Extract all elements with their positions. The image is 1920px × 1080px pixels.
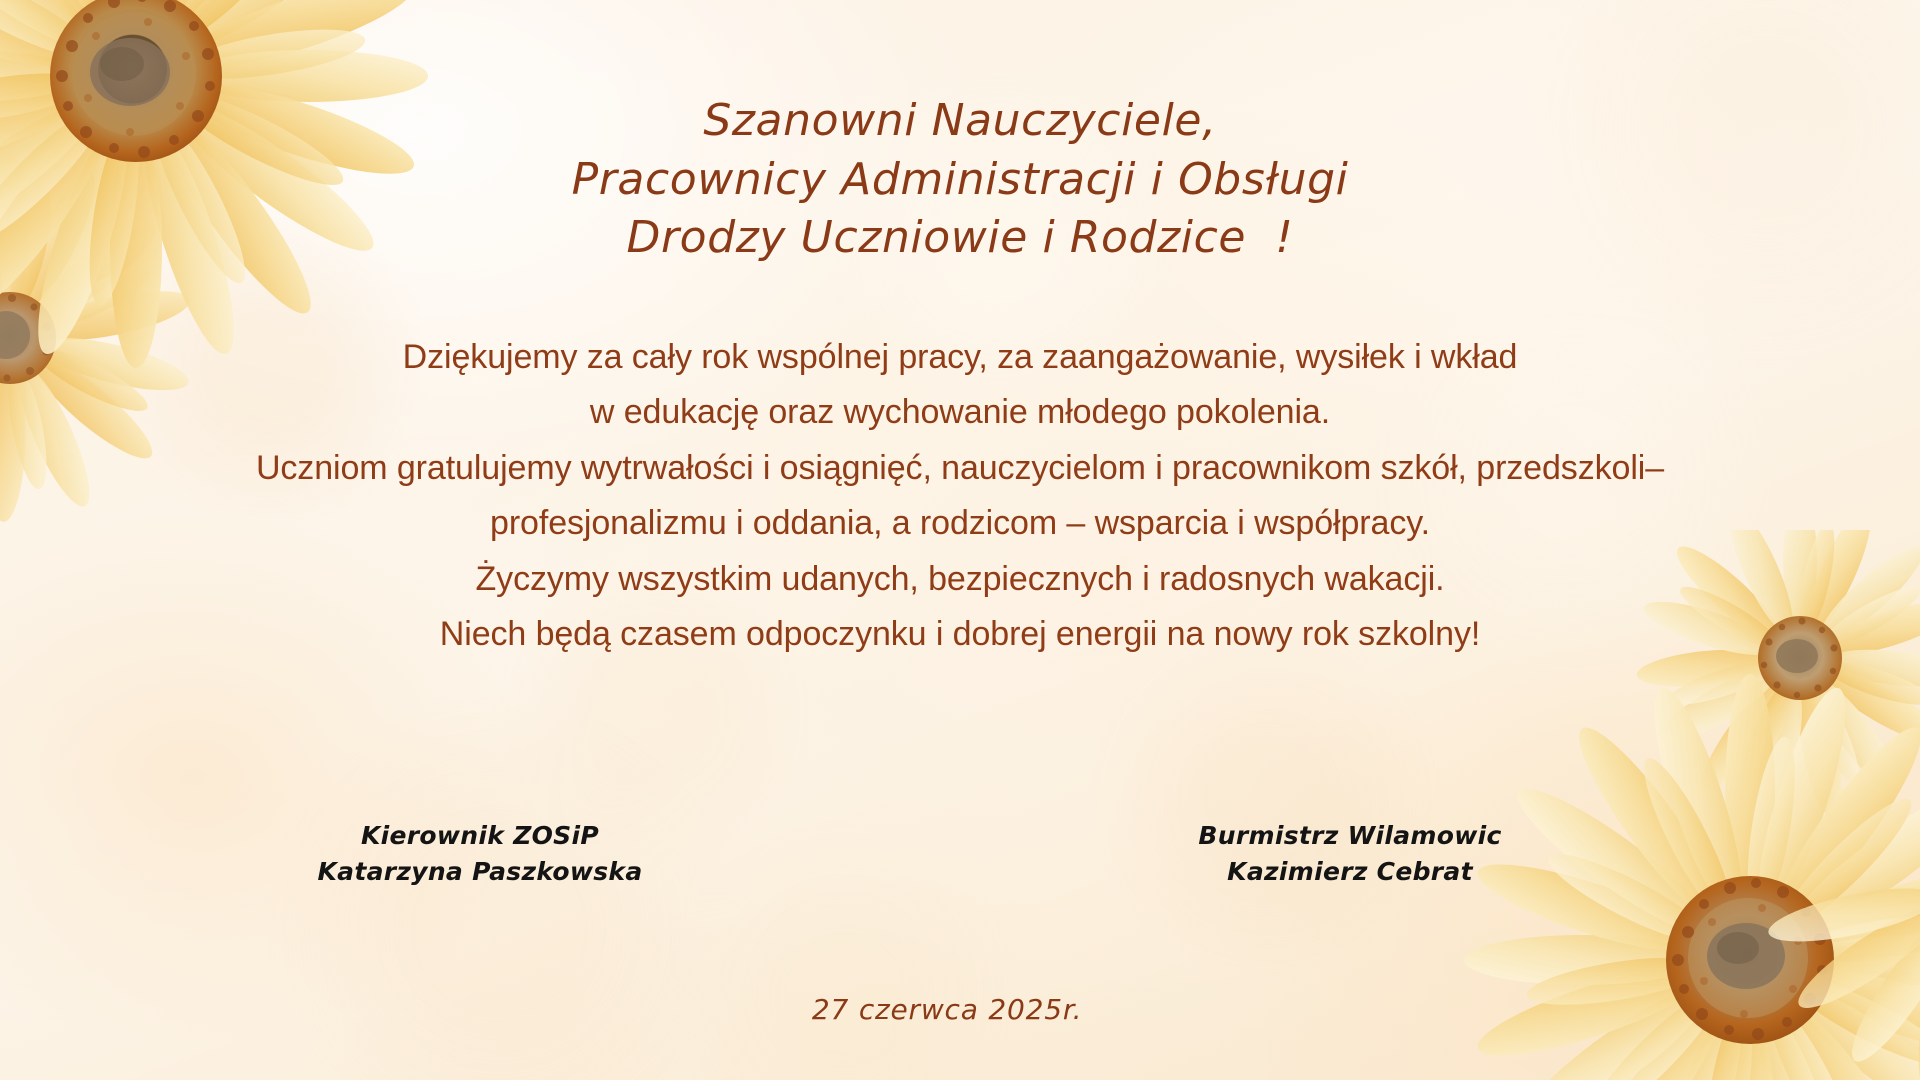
greeting-line-1: Szanowni Nauczyciele,: [0, 92, 1920, 151]
body-line-6: Niech będą czasem odpoczynku i dobrej en…: [0, 607, 1920, 662]
body-line-3: Uczniom gratulujemy wytrwałości i osiągn…: [0, 441, 1920, 496]
body-line-1: Dziękujemy za cały rok wspólnej pracy, z…: [0, 330, 1920, 385]
date-text: 27 czerwca 2025r.: [812, 993, 1082, 1026]
body-line-4: profesjonalizmu i oddania, a rodzicom – …: [0, 496, 1920, 551]
greeting-line-3: Drodzy Uczniowie i Rodzice !: [0, 209, 1920, 268]
date-line: 27 czerwca 2025r.: [0, 960, 1920, 1059]
greeting-card: Szanowni Nauczyciele, Pracownicy Adminis…: [0, 0, 1920, 1080]
card-content: Szanowni Nauczyciele, Pracownicy Adminis…: [0, 0, 1920, 1080]
signature-left: Kierownik ZOSiP Katarzyna Paszkowska: [100, 818, 860, 889]
signature-left-name: Katarzyna Paszkowska: [100, 854, 860, 890]
body-block: Dziękujemy za cały rok wspólnej pracy, z…: [0, 330, 1920, 662]
signature-row: Kierownik ZOSiP Katarzyna Paszkowska Bur…: [0, 818, 1920, 889]
body-line-5: Życzymy wszystkim udanych, bezpiecznych …: [0, 552, 1920, 607]
signature-right: Burmistrz Wilamowic Kazimierz Cebrat: [1030, 818, 1670, 889]
signature-right-title: Burmistrz Wilamowic: [1030, 818, 1670, 854]
greeting-line-2: Pracownicy Administracji i Obsługi: [0, 151, 1920, 210]
greeting-block: Szanowni Nauczyciele, Pracownicy Adminis…: [0, 92, 1920, 268]
signature-left-title: Kierownik ZOSiP: [100, 818, 860, 854]
body-line-2: w edukację oraz wychowanie młodego pokol…: [0, 385, 1920, 440]
signature-right-name: Kazimierz Cebrat: [1030, 854, 1670, 890]
